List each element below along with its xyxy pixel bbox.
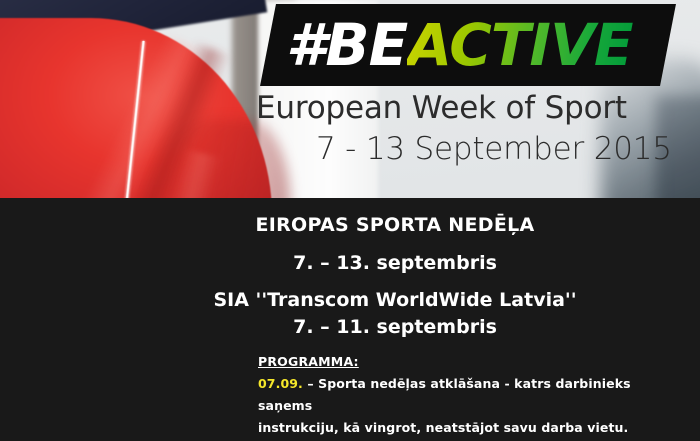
programme-item-date: 07.09. (258, 376, 303, 391)
english-dates: 7 - 13 September 2015 (316, 131, 672, 167)
programme-heading: PROGRAMMA: (258, 354, 688, 369)
programme-item-text: Sporta nedēļas atklāšana - katrs darbini… (258, 376, 631, 413)
programme-item-dash: – (307, 376, 313, 391)
programme-section: PROGRAMMA: 07.09. – Sporta nedēļas atklā… (258, 354, 688, 441)
programme-item-continuation: instrukciju, kā vingrot, neatstājot savu… (258, 417, 688, 439)
beactive-hash-be: #BE (286, 11, 407, 79)
latvian-dates: 7. – 13. septembris (0, 252, 700, 274)
english-title: European Week of Sport (256, 90, 627, 126)
info-panel-content: EIROPAS SPORTA NEDĒĻA 7. – 13. septembri… (0, 198, 700, 441)
latvian-title: EIROPAS SPORTA NEDĒĻA (0, 214, 700, 236)
company-name: SIA ''Transcom WorldWide Latvia'' (0, 289, 700, 311)
beactive-poster: #BEACTIVE European Week of Sport 7 - 13 … (0, 0, 700, 441)
beactive-logo-text: #BEACTIVE (286, 10, 633, 80)
company-event-dates: 7. – 11. septembris (0, 316, 700, 338)
programme-item: 07.09. – Sporta nedēļas atklāšana - katr… (258, 373, 688, 417)
beactive-active-word: ACTIVE (407, 11, 632, 79)
